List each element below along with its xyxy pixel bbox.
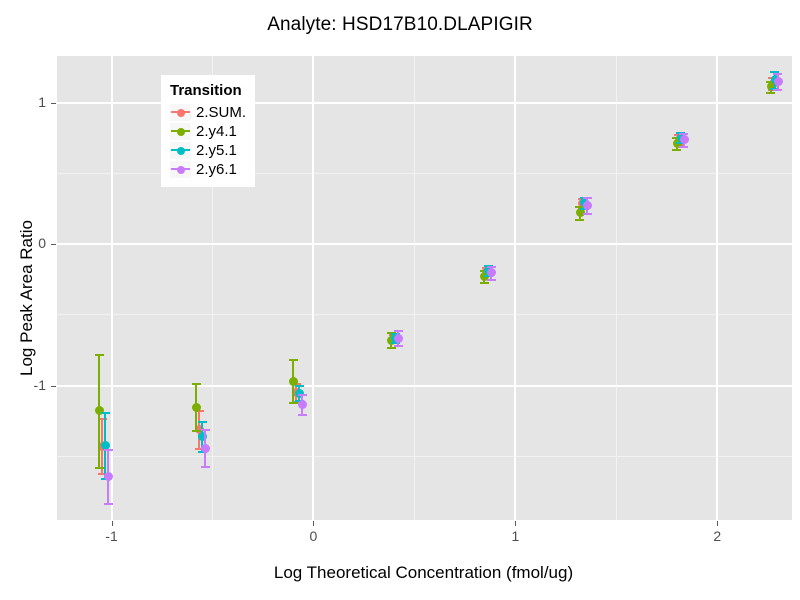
error-bar-cap (394, 330, 403, 332)
error-bar-cap (387, 347, 396, 349)
data-point (201, 444, 210, 453)
error-bar-cap (104, 503, 113, 505)
legend-label: 2.y6.1 (196, 161, 237, 178)
chart-container: Analyte: HSD17B10.DLAPIGIR Log Peak Area… (0, 0, 800, 600)
x-tick-mark (313, 521, 314, 526)
error-bar-cap (95, 354, 104, 356)
error-bar-cap (298, 414, 307, 416)
error-bar-cap (201, 429, 210, 431)
data-point (487, 268, 496, 277)
x-tick-label: 1 (495, 528, 535, 544)
error-bar-cap (487, 279, 496, 281)
chart-title: Analyte: HSD17B10.DLAPIGIR (0, 14, 800, 36)
legend-key-icon (170, 161, 191, 178)
error-bar-cap (201, 466, 210, 468)
legend-key-icon (170, 142, 191, 159)
x-tick-mark (717, 521, 718, 526)
error-bar-cap (198, 421, 207, 423)
x-tick-label: 2 (697, 528, 737, 544)
data-point (104, 472, 113, 481)
legend-key-icon (170, 123, 191, 140)
y-axis-title: Log Peak Area Ratio (17, 63, 37, 533)
x-tick-label: 0 (293, 528, 333, 544)
legend-entries: 2.SUM.2.y4.12.y5.12.y6.1 (170, 103, 246, 179)
data-point (298, 400, 307, 409)
y-tick-mark (51, 103, 56, 104)
error-bar-cap (583, 213, 592, 215)
error-bar-cap (192, 383, 201, 385)
legend-key-icon (170, 104, 191, 121)
legend-label: 2.y5.1 (196, 142, 237, 159)
error-bar-cap (295, 385, 304, 387)
y-tick-label: -1 (4, 377, 46, 393)
x-axis-title: Log Theoretical Concentration (fmol/ug) (57, 563, 790, 583)
error-bar-cap (480, 282, 489, 284)
error-bar-cap (101, 412, 110, 414)
y-tick-mark (51, 386, 56, 387)
data-point (680, 135, 689, 144)
legend-label: 2.y4.1 (196, 123, 237, 140)
legend-item-2-sum-[interactable]: 2.SUM. (170, 103, 246, 122)
legend-label: 2.SUM. (196, 104, 246, 121)
legend-title: Transition (170, 82, 246, 99)
error-bar-cap (672, 149, 681, 151)
error-bar-cap (289, 359, 298, 361)
x-tick-label: -1 (92, 528, 132, 544)
error-bar-cap (394, 345, 403, 347)
y-tick-label: 1 (4, 94, 46, 110)
y-tick-label: 0 (4, 235, 46, 251)
data-point (774, 77, 783, 86)
error-bar-cap (773, 89, 782, 91)
error-bar-cap (95, 467, 104, 469)
error-bar-cap (575, 219, 584, 221)
error-bar-cap (766, 92, 775, 94)
x-tick-mark (112, 521, 113, 526)
legend: Transition 2.SUM.2.y4.12.y5.12.y6.1 (161, 75, 255, 187)
legend-item-2-y5-1[interactable]: 2.y5.1 (170, 141, 246, 160)
error-bar-cap (583, 197, 592, 199)
y-tick-mark (51, 244, 56, 245)
legend-item-2-y6-1[interactable]: 2.y6.1 (170, 160, 246, 179)
error-bar-cap (773, 73, 782, 75)
error-bar-cap (298, 394, 307, 396)
legend-item-2-y4-1[interactable]: 2.y4.1 (170, 122, 246, 141)
error-bar-cap (104, 449, 113, 451)
x-tick-mark (515, 521, 516, 526)
data-point (394, 334, 403, 343)
error-bar-cap (679, 146, 688, 148)
data-point (583, 201, 592, 210)
